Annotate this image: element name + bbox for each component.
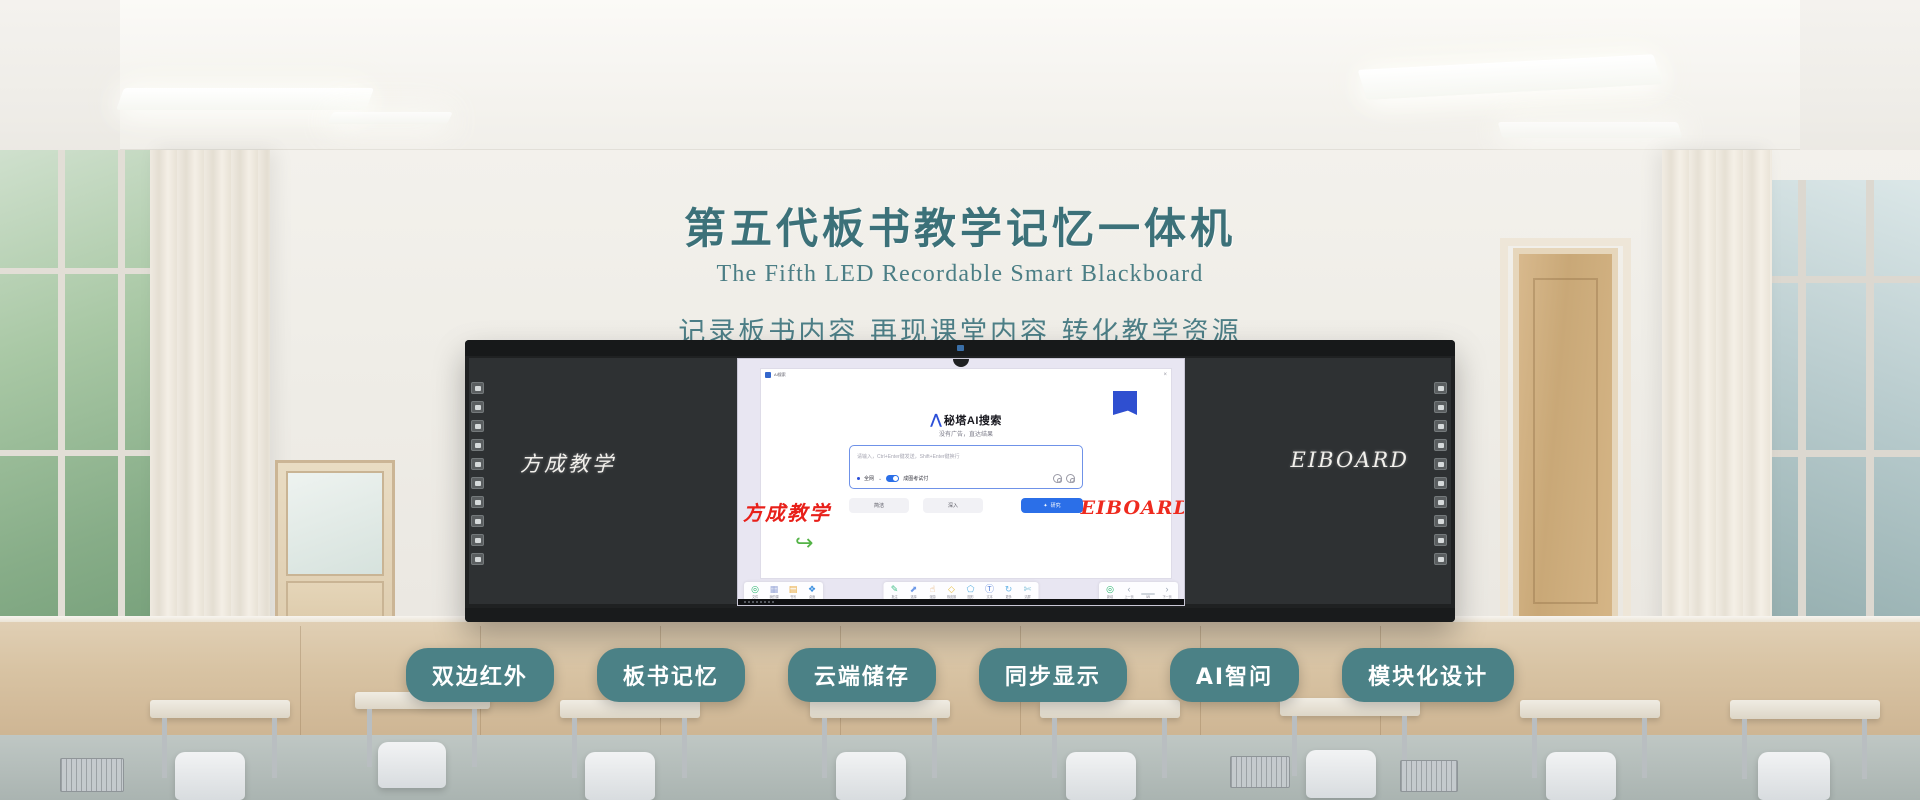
student-chair [585,752,655,800]
pen-icon[interactable] [471,401,484,413]
power-icon[interactable] [1434,553,1447,565]
save-icon[interactable] [471,477,484,489]
scope-label[interactable]: 全网 [864,475,874,482]
toolbar-item[interactable]: ⬈ 选择 [907,584,921,599]
save-icon[interactable] [1434,477,1447,489]
pen-icon[interactable] [1434,420,1447,432]
page-title-en: The Fifth LED Recordable Smart Blackboar… [0,261,1920,288]
mode-deep-button[interactable]: 深入 [923,498,983,513]
annotation-red-en: EIBOARD [1081,497,1185,519]
brand-name: 秘塔AI搜索 [944,412,1002,428]
search-action-row[interactable]: 简洁 深入 ✦ 研究 [849,497,1083,514]
ceiling-light [116,88,374,110]
window-titlebar: AI搜索 × [761,369,1171,380]
hand-icon: ☝ [926,584,940,594]
cursor-icon: ⬈ [907,584,921,594]
right-control-strip[interactable] [1434,382,1449,565]
power-icon[interactable] [471,553,484,565]
prev-icon: ‹ [1122,584,1136,594]
search-placeholder: 请输入，Ctrl+Enter键发送，Shift+Enter键换行 [857,453,960,460]
list-icon: ▤ [786,584,800,594]
sparkle-icon: ✦ [1043,503,1047,509]
blackboard-bottom-bezel [465,608,1455,622]
pen-icon: ✎ [888,584,902,594]
brand-tagline: 没有广告，直达结果 [761,429,1171,438]
brand-block: ⋀ 秘塔AI搜索 [761,411,1171,428]
grid-icon[interactable] [1434,534,1447,546]
display-icon[interactable] [1434,382,1447,394]
mode-simple-button[interactable]: 简洁 [849,498,909,513]
plus-icon[interactable] [1066,474,1075,483]
toolbar-item[interactable]: ✎ 批注 [888,584,902,599]
chevron-down-icon[interactable]: ⌄ [878,476,882,482]
feature-pill[interactable]: 云端储存 [788,648,936,702]
eraser-icon: ◇ [945,584,959,594]
feature-pill-row: 双边红外 板书记忆 云端储存 同步显示 AI智问 模块化设计 [0,648,1920,702]
cabinet-glass [286,471,384,576]
camera-icon [957,345,964,351]
search-input[interactable]: 请输入，Ctrl+Enter键发送，Shift+Enter键换行 全网 ⌄ 成图… [849,445,1083,489]
undo-icon: ↻ [1002,584,1016,594]
apps-icon: ▦ [767,584,781,594]
toolbar-item[interactable]: ⬠ 图形 [964,584,978,599]
feature-pill[interactable]: 板书记忆 [597,648,745,702]
chalk-text-left: 方成教学 [520,448,616,478]
desk-basket [1400,760,1458,792]
desk-basket [60,758,124,792]
feature-pill[interactable]: AI智问 [1170,648,1299,702]
display-icon[interactable] [471,382,484,394]
record-icon: ◎ [748,584,762,594]
text-icon: Ⓣ [983,584,997,594]
close-icon[interactable]: × [1163,372,1167,378]
ceiling-light [327,112,453,124]
page-title-cn: 第五代板书教学记忆一体机 [0,195,1920,256]
student-chair [1306,750,1376,798]
chalk-text-right: EIBOARD [1291,448,1409,472]
pause-icon[interactable] [471,515,484,527]
toolbar-item[interactable]: ▦ 我的课 [767,584,781,599]
save-icon[interactable] [1434,458,1447,470]
toolbar-item[interactable]: › 下一页 [1160,584,1174,599]
toolbar-item[interactable]: ↻ 更多 [1002,584,1016,599]
stop-icon[interactable] [471,496,484,508]
brand-mark-icon: ⋀ [930,411,940,428]
toolbar-item[interactable]: ◎ 新增 [1103,584,1117,599]
ai-search-window[interactable]: AI搜索 × ⋀ 秘塔AI搜索 没有广告，直达结果 请输入，Ctrl+Enter… [760,368,1172,579]
student-chair [1066,752,1136,800]
exam-mode-toggle[interactable] [886,475,899,482]
toolbar-item[interactable]: ◇ 橡皮擦 [945,584,959,599]
blackboard-top-bezel [465,340,1455,356]
grid-icon[interactable] [471,534,484,546]
student-chair [1758,752,1830,800]
left-control-strip[interactable] [471,382,486,565]
toolbar-item[interactable]: ☝ 漫游 [926,584,940,599]
toggle-label: 成图考试付 [903,475,928,482]
headline-block: 第五代板书教学记忆一体机 The Fifth LED Recordable Sm… [0,195,1920,349]
save-icon[interactable] [471,458,484,470]
camera-icon[interactable] [1053,474,1062,483]
page-icon[interactable] [471,439,484,451]
scope-dot-icon [857,477,860,480]
interactive-display[interactable]: AI搜索 × ⋀ 秘塔AI搜索 没有广告，直达结果 请输入，Ctrl+Enter… [737,358,1185,606]
classroom-scene: 第五代板书教学记忆一体机 The Fifth LED Recordable Sm… [0,0,1920,800]
feature-pill[interactable]: 同步显示 [979,648,1127,702]
student-chair [378,742,446,788]
toolbar-item[interactable]: Ⓣ 文本 [983,584,997,599]
feature-pill[interactable]: 双边红外 [406,648,554,702]
mode-research-button[interactable]: ✦ 研究 [1021,498,1083,513]
annotation-green-arrow: ↩ [795,531,813,556]
search-options-row[interactable]: 全网 ⌄ 成图考试付 [857,474,1075,483]
toolbar-item[interactable]: ◎ 文件 [748,584,762,599]
student-chair [175,752,245,800]
stop-icon[interactable] [1434,496,1447,508]
toolbar-item[interactable]: ❖ 桌面 [805,584,819,599]
shapes-icon: ⬠ [964,584,978,594]
research-label: 研究 [1051,502,1061,509]
desk-basket [1230,756,1290,788]
annotation-red-cn: 方成教学 [743,497,831,526]
next-icon: › [1160,584,1174,594]
floor [0,735,1920,800]
record-icon: ◎ [1103,584,1117,594]
student-chair [1546,752,1616,800]
windows-icon: ❖ [805,584,819,594]
toolbar-item[interactable]: ✄ 清屏 [1021,584,1035,599]
pause-icon[interactable] [1434,515,1447,527]
window-title: AI搜索 [774,372,786,378]
os-taskbar[interactable] [738,599,1184,605]
toolbar-item[interactable]: ▤ 书写 [786,584,800,599]
toolbar-item[interactable]: ‹ 上一页 [1122,584,1136,599]
student-chair [836,752,906,800]
app-logo-icon [765,372,771,378]
feature-pill[interactable]: 模块化设计 [1342,648,1514,702]
ceiling-light [1498,122,1683,138]
pen-icon[interactable] [1434,401,1447,413]
page-icon[interactable] [1434,439,1447,451]
pen-icon[interactable] [471,420,484,432]
screen-notch [953,359,969,367]
clear-icon: ✄ [1021,584,1035,594]
